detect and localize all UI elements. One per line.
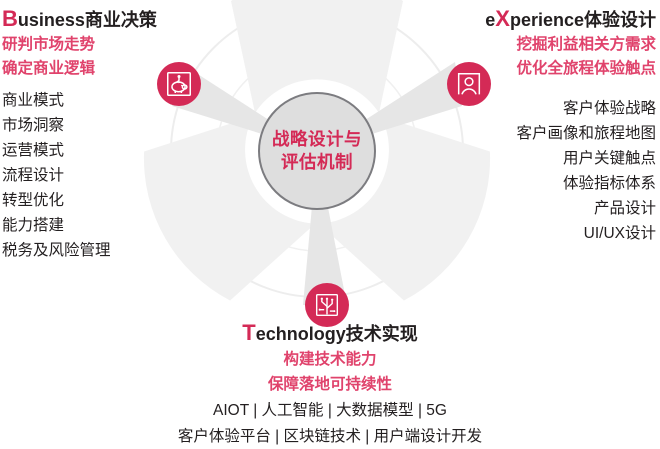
circuit-board-glyph — [312, 290, 342, 320]
technology-heading: Technology技术实现 — [0, 322, 660, 345]
list-item: 流程设计 — [2, 163, 111, 188]
list-item: 体验指标体系 — [516, 171, 656, 196]
experience-heading: eXperience体验设计 — [485, 8, 656, 31]
business-heading-initial: B — [2, 6, 18, 31]
circuit-board-icon[interactable] — [305, 283, 349, 327]
user-portrait-glyph — [454, 69, 484, 99]
list-item: 能力搭建 — [2, 213, 111, 238]
list-item: 客户画像和旅程地图 — [516, 121, 656, 146]
list-item: 商业模式 — [2, 88, 111, 113]
business-item-list: 商业模式 市场洞察 运营模式 流程设计 转型优化 能力搭建 税务及风险管理 — [2, 88, 111, 263]
experience-heading-rest: perience体验设计 — [510, 10, 656, 30]
business-heading-rest: usiness商业决策 — [18, 10, 157, 30]
piggy-bank-icon[interactable] — [157, 62, 201, 106]
node-technology: Technology技术实现 构建技术能力 保障落地可持续性 — [0, 322, 660, 395]
business-subtitle-line-1: 研判市场走势 — [2, 35, 157, 55]
hub-line-1: 战略设计与 — [272, 128, 362, 151]
list-item: AIOT | 人工智能 | 大数据模型 | 5G — [0, 398, 660, 424]
technology-subtitle-line-2: 保障落地可持续性 — [0, 375, 660, 395]
technology-subtitle-line-1: 构建技术能力 — [0, 350, 660, 370]
hub-line-2: 评估机制 — [281, 151, 353, 174]
list-item: UI/UX设计 — [516, 221, 656, 246]
business-subtitle-line-2: 确定商业逻辑 — [2, 59, 157, 79]
experience-item-list: 客户体验战略 客户画像和旅程地图 用户关键触点 体验指标体系 产品设计 UI/U… — [516, 96, 656, 246]
experience-heading-prefix: e — [485, 10, 495, 30]
list-item: 用户关键触点 — [516, 146, 656, 171]
business-heading: Business商业决策 — [2, 8, 157, 31]
list-item: 运营模式 — [2, 138, 111, 163]
experience-heading-initial: X — [495, 6, 510, 31]
list-item: 转型优化 — [2, 188, 111, 213]
list-item: 市场洞察 — [2, 113, 111, 138]
list-item: 税务及风险管理 — [2, 238, 111, 263]
strategy-hub: 战略设计与 评估机制 — [258, 92, 376, 210]
technology-item-list: AIOT | 人工智能 | 大数据模型 | 5G 客户体验平台 | 区块链技术 … — [0, 398, 660, 449]
list-item: 产品设计 — [516, 196, 656, 221]
experience-subtitle-line-1: 挖掘利益相关方需求 — [485, 35, 656, 55]
node-experience: eXperience体验设计 挖掘利益相关方需求 优化全旅程体验触点 — [485, 8, 656, 79]
experience-subtitle-line-2: 优化全旅程体验触点 — [485, 59, 656, 79]
piggy-bank-glyph — [164, 69, 194, 99]
node-business: Business商业决策 研判市场走势 确定商业逻辑 — [2, 8, 157, 79]
btx-framework-diagram: 战略设计与 评估机制 — [0, 0, 660, 449]
technology-heading-initial: T — [242, 320, 255, 345]
list-item: 客户体验战略 — [516, 96, 656, 121]
list-item: 客户体验平台 | 区块链技术 | 用户端设计开发 — [0, 424, 660, 449]
technology-heading-rest: echnology技术实现 — [256, 324, 418, 344]
